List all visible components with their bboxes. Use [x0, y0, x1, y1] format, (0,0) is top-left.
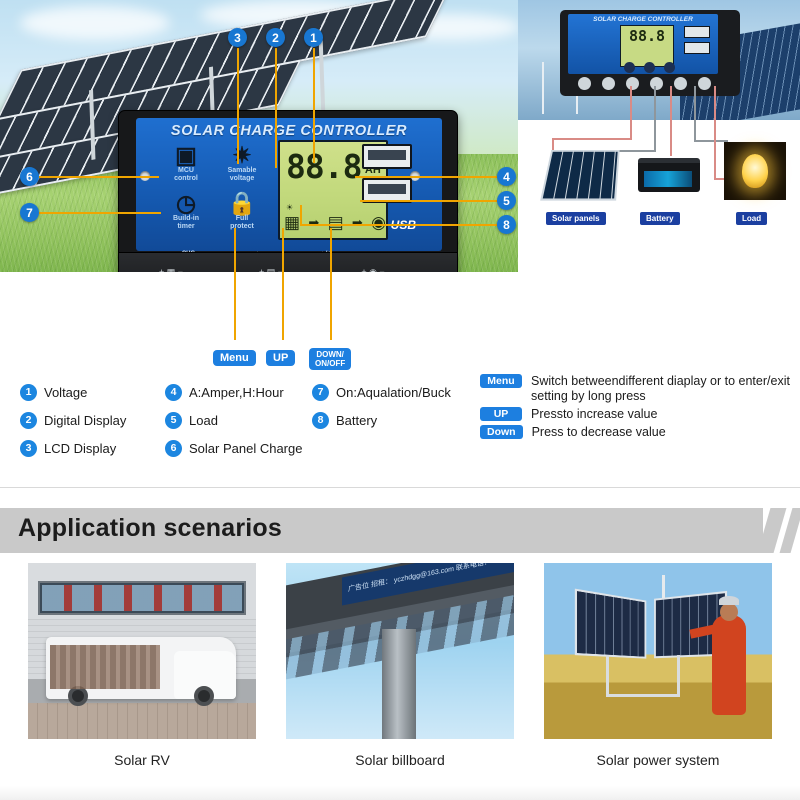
load-lightbulb-device — [724, 142, 786, 200]
diagram-label-solar-panels: Solar panels — [546, 212, 606, 225]
diagram-button — [664, 62, 675, 73]
legend-badge: 4 — [165, 384, 182, 401]
legend-label: Load — [189, 413, 218, 428]
callout-number-5: 5 — [497, 191, 516, 210]
wheel-icon — [68, 686, 88, 706]
feature-label-line1: Samable — [228, 167, 257, 174]
callout-line-6 — [39, 176, 159, 178]
callout-number-1: 1 — [304, 28, 323, 47]
legend-label: Voltage — [44, 385, 87, 400]
key-tag-up[interactable]: UP — [480, 407, 522, 421]
callout-line-8-riser — [300, 205, 302, 225]
wire-negative — [654, 86, 656, 152]
legend-item: 4 A:Amper,H:Hour — [165, 378, 325, 406]
wire-negative — [694, 140, 728, 142]
legend-label: On:Aqualation/Buck — [336, 385, 451, 400]
building-windows — [38, 581, 246, 615]
product-hero-photo: SOLAR CHARGE CONTROLLER ▣ MCU control ✷ … — [0, 0, 518, 272]
callout-number-8: 8 — [497, 215, 516, 234]
wire-positive — [630, 86, 632, 140]
diagram-controller-face: SOLAR CHARGE CONTROLLER 88.8 — [568, 14, 718, 74]
key-tag-menu[interactable]: Menu — [480, 374, 522, 388]
legend-badge: 3 — [20, 440, 37, 457]
diagram-terminal — [674, 77, 687, 90]
keycap-down-line2: ON/OFF — [315, 359, 345, 368]
diagram-terminal — [602, 77, 615, 90]
wire-negative — [694, 86, 696, 142]
controller-front-panel: SOLAR CHARGE CONTROLLER ▣ MCU control ✷ … — [136, 118, 442, 251]
chip-icon: ▣ — [158, 143, 214, 167]
key-description-row: Menu Switch betweendifferent diaplay or … — [480, 374, 795, 404]
arrow-right-icon: ➡ — [352, 215, 363, 231]
lock-icon: 🔒 — [214, 191, 270, 215]
wind-turbine-icon — [542, 62, 544, 114]
scenario-thumbnail: 广告位 招租： yczhdgg@163.com 联系电话： 0351-2865 — [286, 563, 514, 739]
feature-full-protect: 🔒 Full protect — [214, 191, 270, 231]
solar-panel-icon: ▦ — [284, 214, 300, 232]
legend-column-c: 7 On:Aqualation/Buck 8 Battery — [312, 378, 492, 434]
legend-label: Solar Panel Charge — [189, 441, 302, 456]
battery-device — [638, 158, 700, 192]
keycap-down-onoff[interactable]: DOWN/ ON/OFF — [309, 348, 351, 370]
diagram-lcd-screen: 88.8 — [620, 25, 674, 67]
feature-mcu-control: ▣ MCU control — [158, 143, 214, 183]
charge-controller-device: SOLAR CHARGE CONTROLLER ▣ MCU control ✷ … — [118, 110, 458, 272]
callout-number-2: 2 — [266, 28, 285, 47]
diagram-button — [644, 62, 655, 73]
callout-line-3 — [237, 48, 239, 164]
key-description-row: UP Pressto increase value — [480, 407, 795, 422]
callout-line-4 — [355, 176, 499, 178]
scenario-thumbnail — [544, 563, 772, 739]
feature-label-line1: MCU — [178, 167, 194, 174]
bottom-fade-decoration — [0, 786, 800, 800]
key-description-row: Down Press to decrease value — [480, 425, 795, 440]
diagram-terminal — [578, 77, 591, 90]
scenario-card-solar-power-system: Solar power system — [544, 563, 772, 783]
billboard-support-column — [382, 629, 416, 739]
legend-item: 8 Battery — [312, 406, 492, 434]
key-description-text: Press to decrease value — [532, 425, 666, 440]
scenario-card-list: Solar RV 广告位 招租： yczhdgg@163.com 联系电话： 0… — [0, 563, 800, 783]
scenario-caption: Solar billboard — [286, 752, 514, 768]
callout-line-8 — [300, 224, 499, 226]
scenario-thumbnail — [28, 563, 256, 739]
legend-label: LCD Display — [44, 441, 116, 456]
battery-terminal-symbol: + ▤ − — [249, 267, 293, 272]
feature-label-line2: voltage — [230, 175, 255, 182]
legend-badge: 7 — [312, 384, 329, 401]
person-head — [720, 603, 738, 621]
diagram-controller-device: SOLAR CHARGE CONTROLLER 88.8 — [560, 10, 740, 96]
legend-section: 1 Voltage 2 Digital Display 3 LCD Displa… — [0, 372, 800, 486]
feature-label-line2: timer — [177, 223, 194, 230]
sun-icon: ☀ — [286, 203, 293, 212]
legend-item: 1 Voltage — [20, 378, 170, 406]
legend-badge: 6 — [165, 440, 182, 457]
scenario-card-solar-rv: Solar RV — [28, 563, 256, 783]
legend-item: 5 Load — [165, 406, 325, 434]
diagram-label-load: Load — [736, 212, 767, 225]
legend-key-descriptions: Menu Switch betweendifferent diaplay or … — [480, 374, 795, 443]
scenario-card-solar-billboard: 广告位 招租： yczhdgg@163.com 联系电话： 0351-2865 … — [286, 563, 514, 783]
callout-number-7: 7 — [20, 203, 39, 222]
lcd-digit-readout: 88.8 — [286, 150, 361, 184]
panel-mount-frame — [606, 655, 680, 697]
feature-label-line1: Full — [236, 215, 248, 222]
legend-badge: 1 — [20, 384, 37, 401]
scenario-caption: Solar power system — [544, 752, 772, 768]
keycap-down-line1: DOWN/ — [315, 350, 345, 359]
legend-item: 2 Digital Display — [20, 406, 170, 434]
key-tag-down[interactable]: Down — [480, 425, 523, 439]
application-scenarios-section: Application scenarios Solar RV — [0, 488, 800, 800]
key-description-text: Switch betweendifferent diaplay or to en… — [531, 374, 795, 404]
wire-positive — [670, 86, 672, 156]
legend-badge: 8 — [312, 412, 329, 429]
callout-line-2 — [275, 48, 277, 168]
legend-column-a: 1 Voltage 2 Digital Display 3 LCD Displa… — [20, 378, 170, 462]
callout-number-4: 4 — [497, 167, 516, 186]
diagram-label-battery: Battery — [640, 212, 680, 225]
keycap-menu[interactable]: Menu — [213, 350, 256, 366]
diagram-devices-area: Solar panels Battery Load — [518, 120, 800, 272]
callout-line-7 — [39, 212, 161, 214]
terminal-strip: + ▦ − + ▤ − + ◉ − — [119, 252, 457, 272]
legend-label: A:Amper,H:Hour — [189, 385, 284, 400]
callout-line-5 — [360, 200, 499, 202]
legend-item: 7 On:Aqualation/Buck — [312, 378, 492, 406]
diagram-terminal — [698, 77, 711, 90]
solar-panel-device — [540, 150, 620, 201]
callout-line-down — [330, 228, 332, 340]
person-figure — [712, 615, 746, 715]
diagram-button — [624, 62, 635, 73]
gear-icon: ✷ — [214, 143, 270, 167]
person-hat — [719, 596, 739, 605]
diagram-usb-ports — [684, 26, 710, 56]
load-terminal-symbol: + ◉ − — [351, 267, 395, 272]
callout-line-1 — [313, 48, 315, 163]
scenario-caption: Solar RV — [28, 752, 256, 768]
legend-label: Digital Display — [44, 413, 126, 428]
feature-sampling-voltage: ✷ Samable voltage — [214, 143, 270, 183]
controller-title: SOLAR CHARGE CONTROLLER — [136, 123, 442, 139]
legend-badge: 5 — [165, 412, 182, 429]
wheel-icon — [194, 686, 214, 706]
callout-number-6: 6 — [20, 167, 39, 186]
diagram-lcd-digits: 88.8 — [621, 26, 673, 46]
legend-label: Battery — [336, 413, 377, 428]
section-heading: Application scenarios — [18, 514, 282, 543]
solar-terminal-symbol: + ▦ − — [149, 267, 193, 272]
callout-line-up — [282, 228, 284, 340]
legend-item: 6 Solar Panel Charge — [165, 434, 325, 462]
usb-port-icon — [362, 144, 412, 169]
wiring-diagram: SOLAR CHARGE CONTROLLER 88.8 — [518, 0, 800, 272]
callout-line-menu — [234, 228, 236, 340]
solar-panel-left — [575, 589, 646, 659]
diagram-terminal — [626, 77, 639, 90]
product-overview-section: SOLAR CHARGE CONTROLLER ▣ MCU control ✷ … — [0, 0, 800, 486]
load-bulb-icon: ◉ — [371, 214, 386, 232]
clock-icon: ◷ — [158, 191, 214, 215]
feature-label-line2: control — [174, 175, 198, 182]
key-description-text: Pressto increase value — [531, 407, 657, 422]
motorhome-body — [46, 637, 236, 699]
legend-item: 3 LCD Display — [20, 434, 170, 462]
diagram-controller-title: SOLAR CHARGE CONTROLLER — [568, 16, 718, 23]
callout-number-3: 3 — [228, 28, 247, 47]
wire-positive — [552, 138, 632, 140]
keycap-up[interactable]: UP — [266, 350, 295, 366]
wire-positive — [714, 86, 716, 180]
feature-buildin-timer: ◷ Build-in timer — [158, 191, 214, 231]
arrow-right-icon: ➡ — [308, 215, 319, 231]
legend-badge: 2 — [20, 412, 37, 429]
paved-ground — [28, 703, 256, 739]
feature-label-line1: Build-in — [173, 215, 199, 222]
diagram-header-photo: SOLAR CHARGE CONTROLLER 88.8 — [518, 0, 800, 120]
diagram-terminal — [650, 77, 663, 90]
legend-column-b: 4 A:Amper,H:Hour 5 Load 6 Solar Panel Ch… — [165, 378, 325, 462]
page-root: SOLAR CHARGE CONTROLLER ▣ MCU control ✷ … — [0, 0, 800, 800]
